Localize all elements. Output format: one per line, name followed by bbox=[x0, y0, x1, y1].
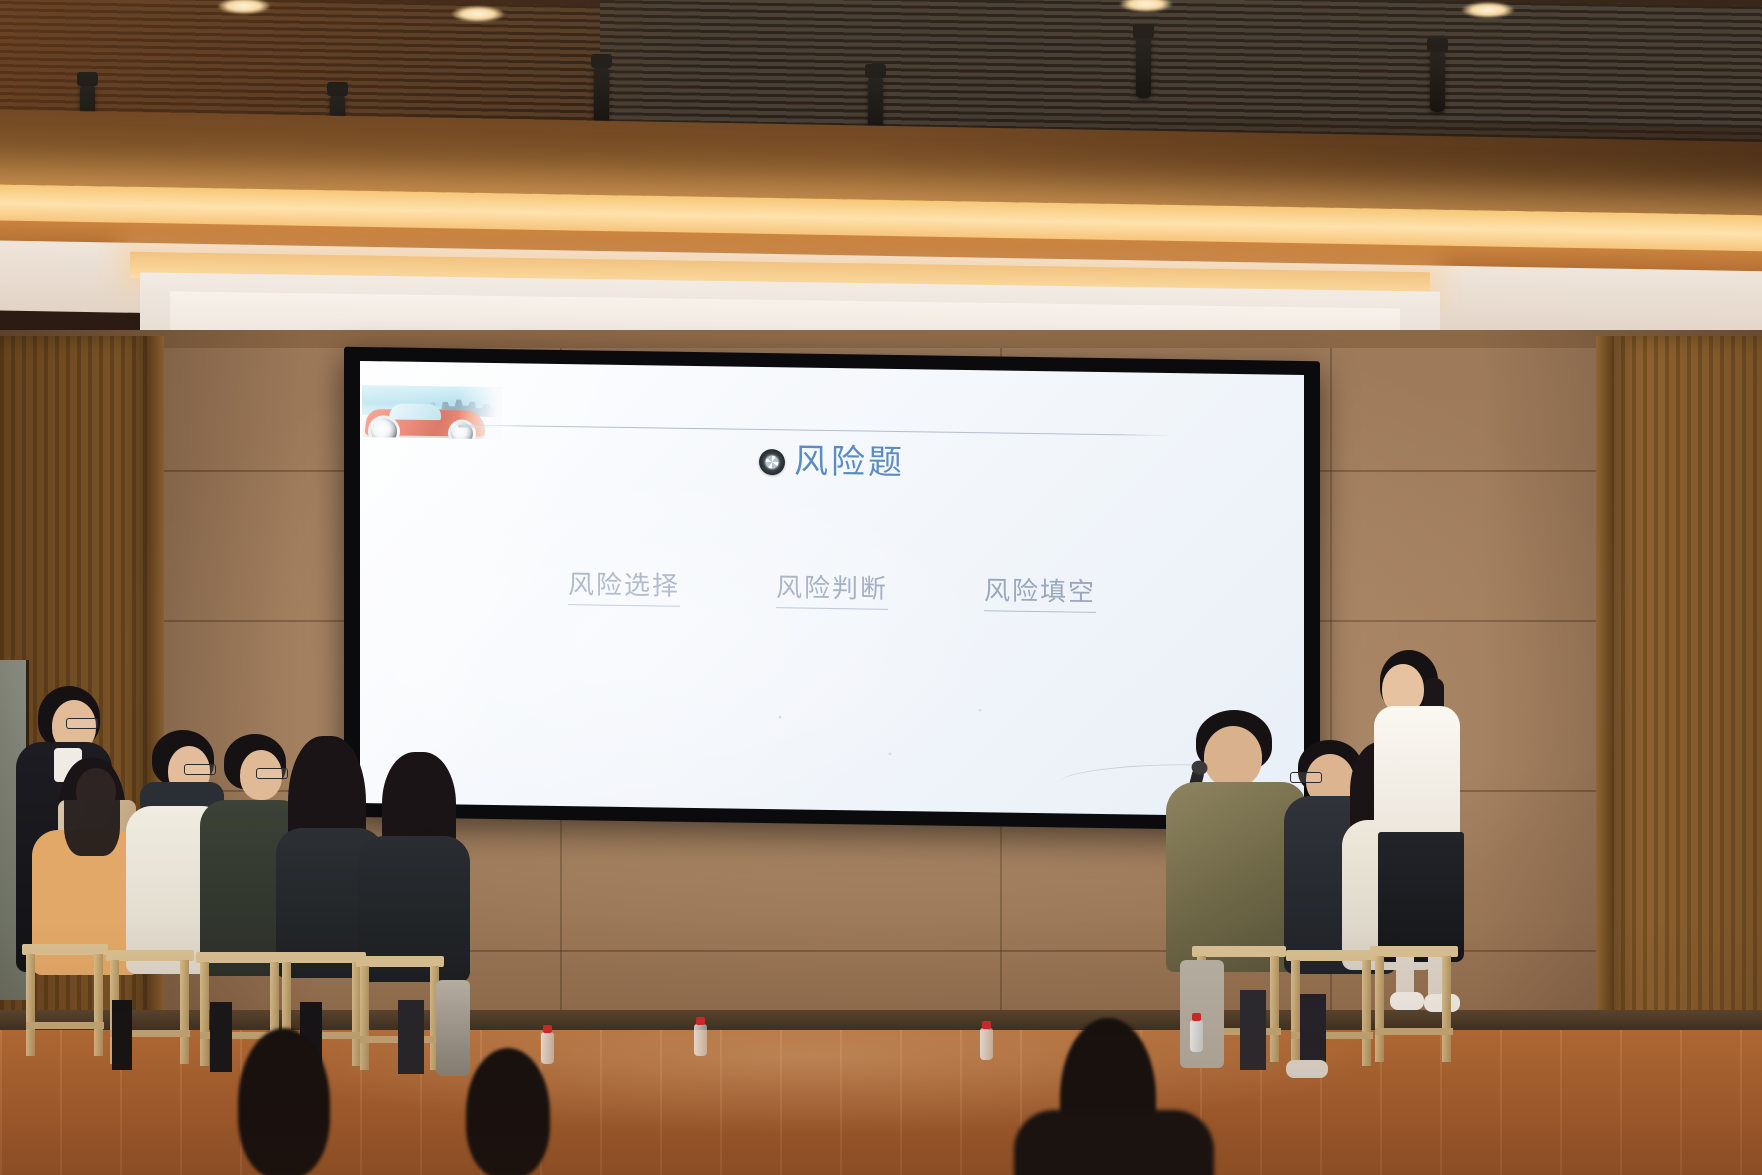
person-seated-left-6-hair bbox=[64, 760, 120, 856]
wall-post-right bbox=[1596, 336, 1612, 1056]
projection-screen-frame: 风险题 风险选择 风险判断 风险填空 bbox=[344, 347, 1320, 831]
stool-left-5 bbox=[356, 956, 444, 1074]
stool-right-3 bbox=[1370, 946, 1458, 1066]
person-standing-presenter-blouse bbox=[1374, 706, 1460, 838]
foreground-head-2 bbox=[466, 1048, 550, 1175]
screen-dust-specks bbox=[740, 697, 1040, 791]
water-bottle-1[interactable] bbox=[541, 1032, 554, 1064]
water-bottle-4[interactable] bbox=[1190, 1020, 1203, 1052]
track-light-3 bbox=[594, 66, 609, 128]
water-bottle-2[interactable] bbox=[694, 1024, 707, 1056]
slide-link-risk-choice[interactable]: 风险选择 bbox=[568, 564, 680, 607]
downlight-4 bbox=[1462, 2, 1514, 18]
wall-slats-right bbox=[1610, 336, 1762, 1056]
tire-wheel-icon bbox=[759, 449, 785, 475]
person-standing-left-glasses bbox=[66, 718, 98, 729]
foreground-head-3 bbox=[1060, 1018, 1156, 1175]
stool-left-2 bbox=[106, 950, 194, 1068]
foreground-head-1 bbox=[238, 1028, 330, 1175]
stool-right-2 bbox=[1286, 950, 1378, 1070]
photo-scene: 风险题 风险选择 风险判断 风险填空 bbox=[0, 0, 1762, 1175]
person-seated-left-2-glasses bbox=[184, 764, 216, 775]
slide-link-risk-judgment[interactable]: 风险判断 bbox=[776, 567, 888, 610]
race-car-windshield bbox=[389, 403, 444, 420]
projection-screen[interactable]: 风险题 风险选择 风险判断 风险填空 bbox=[360, 361, 1304, 817]
slide-title: 风险题 bbox=[794, 445, 905, 481]
slide-link-risk-fillin[interactable]: 风险填空 bbox=[984, 570, 1096, 613]
slide-title-row: 风险题 bbox=[360, 439, 1304, 487]
track-light-6 bbox=[1430, 50, 1445, 112]
person-seated-right-2-glasses bbox=[1290, 772, 1322, 783]
water-bottle-3[interactable] bbox=[980, 1028, 993, 1060]
downlight-2 bbox=[452, 6, 504, 22]
stool-left-1 bbox=[22, 944, 108, 1062]
stool-right-1 bbox=[1192, 946, 1286, 1066]
slide-divider-rule bbox=[472, 425, 1172, 436]
race-car-fade-mask bbox=[458, 386, 502, 439]
race-car-graphic bbox=[362, 385, 502, 439]
slide-link-row: 风险选择 风险判断 风险填空 bbox=[360, 561, 1304, 616]
person-seated-left-3-glasses bbox=[256, 768, 288, 779]
person-with-microphone-head bbox=[1204, 726, 1262, 788]
track-light-5 bbox=[1136, 36, 1151, 98]
